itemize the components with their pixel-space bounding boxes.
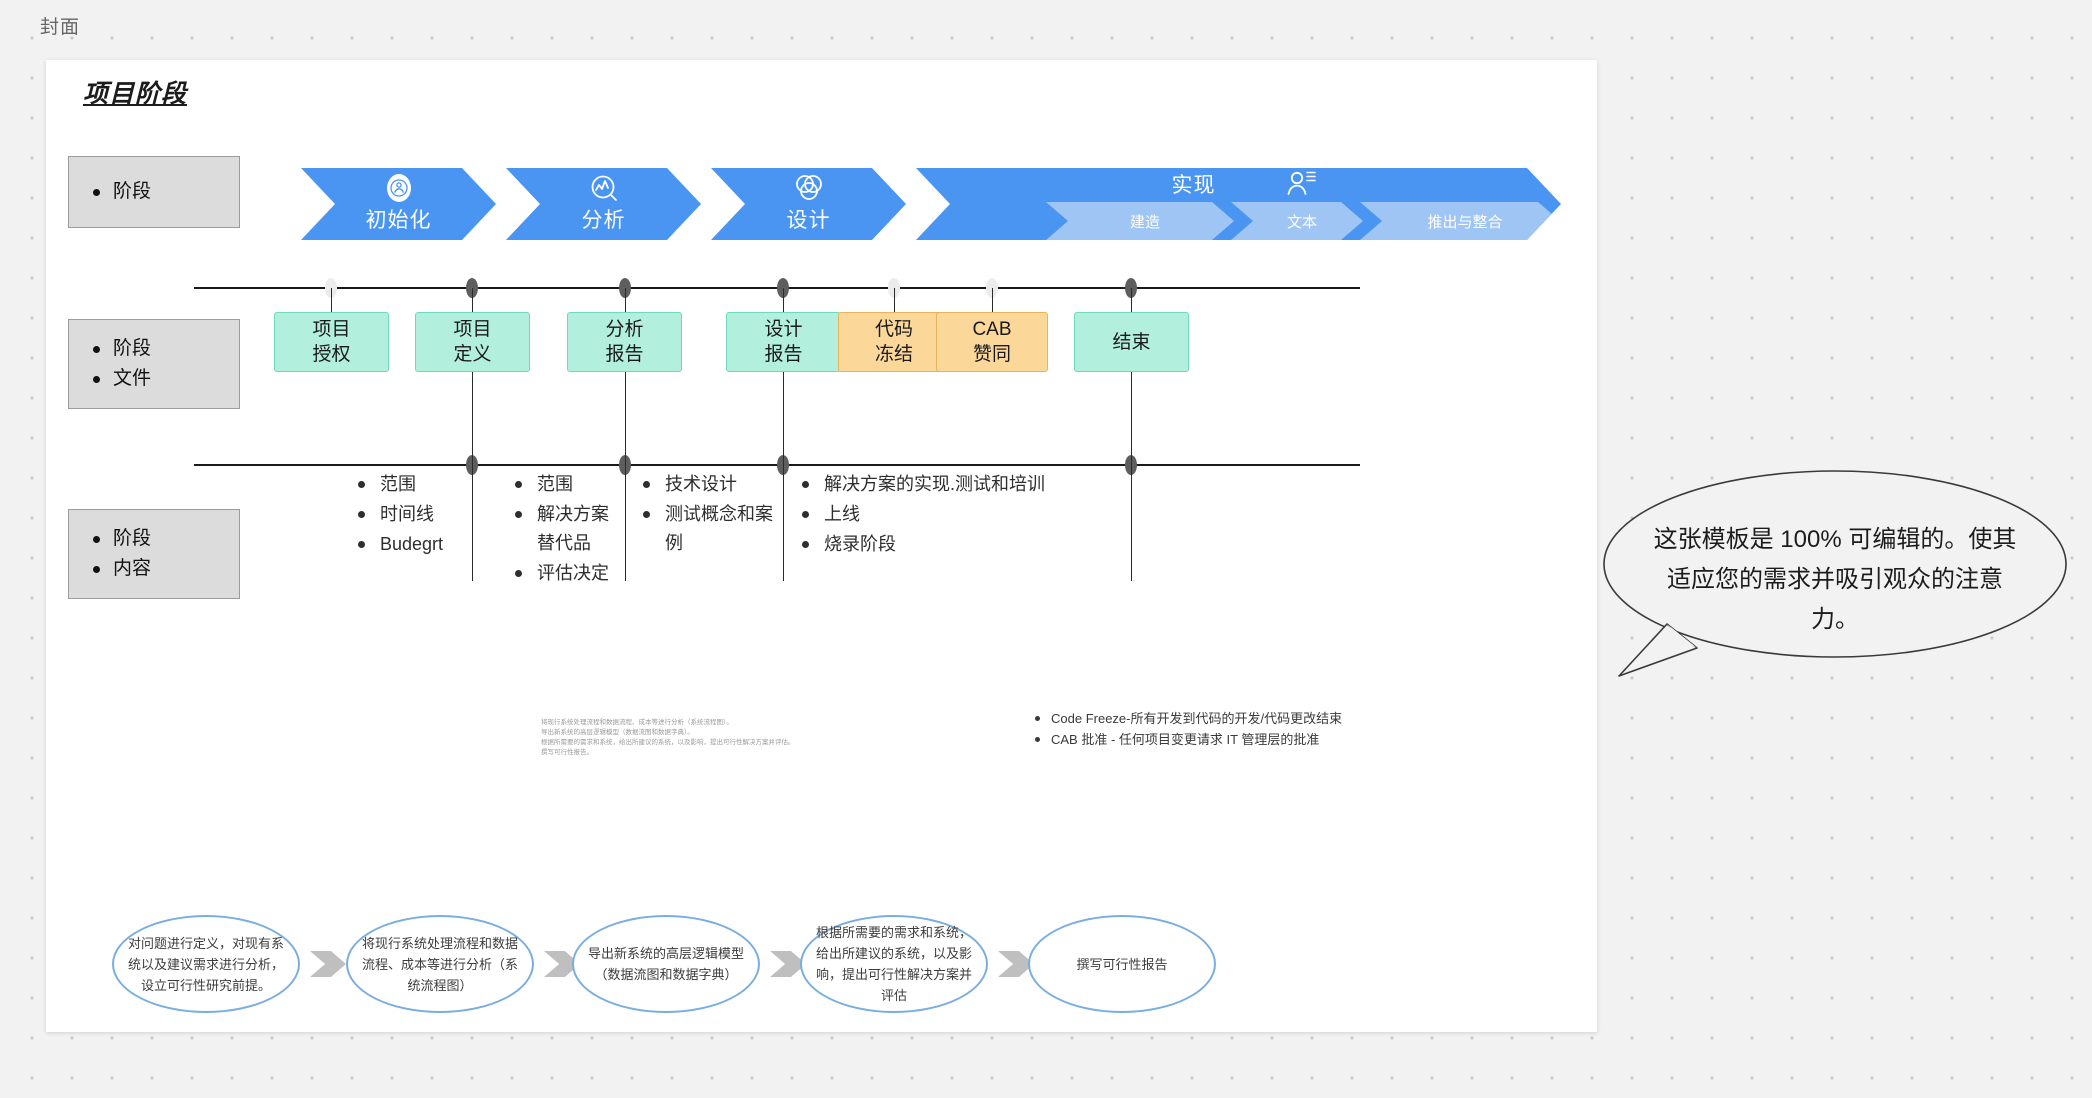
phase-chevron-label: 实现: [916, 169, 1561, 199]
row-label-item: 内容: [91, 554, 239, 584]
phase-chevron-label: 设计: [745, 204, 872, 234]
phase-chevron-implementation[interactable]: 实现 建造 文本 推出与整合: [916, 168, 1561, 240]
content-column-analysis: 范围 解决方案替代品 评估决定: [511, 470, 619, 589]
sub-phase-deploy[interactable]: 推出与整合: [1360, 202, 1560, 240]
row-label-item: 阶段: [91, 177, 239, 207]
milestone-line-2: 报告: [764, 342, 802, 367]
sub-phase-label: 推出与整合: [1427, 211, 1502, 232]
person-circle-icon: [301, 172, 496, 204]
analytics-search-icon: [506, 172, 701, 206]
page-title: 项目阶段: [83, 74, 187, 110]
phase-chevron-init[interactable]: 初始化: [301, 168, 496, 240]
timeline-stem: [625, 288, 626, 313]
flow-step-4[interactable]: 根据所需要的需求和系统，给出所建议的系统，以及影响，提出可行性解决方案并评估: [800, 915, 988, 1013]
timeline-stem: [1131, 372, 1132, 465]
list-item: 范围: [354, 470, 464, 499]
milestone-box-code-freeze[interactable]: 代码 冻结: [838, 312, 950, 372]
list-item: 烧录阶段: [798, 530, 1118, 559]
sub-phase-build[interactable]: 建造: [1046, 202, 1234, 240]
flow-step-5[interactable]: 撰写可行性报告: [1028, 915, 1216, 1013]
timeline-stem: [472, 372, 473, 465]
timeline-stem: [783, 372, 784, 465]
timeline-stem: [894, 288, 895, 313]
milestone-line-2: 赞同: [973, 342, 1011, 367]
milestone-box-analysis-report[interactable]: 分析 报告: [567, 312, 682, 372]
list-item: Budegrt: [354, 530, 464, 559]
milestone-line-1: 代码: [875, 317, 913, 342]
row-label-documents: 阶段 文件: [68, 319, 240, 409]
tiny-note-paragraph: 将现行系统处理流程和数据流程、成本等进行分析（系统流程图）。 导出新系统的高层逻…: [541, 718, 831, 758]
milestone-line-1: 分析: [605, 317, 643, 342]
phase-chevron-analysis[interactable]: 分析: [506, 168, 701, 240]
phase-chevron-banner: 初始化 分析 设计 实现: [301, 152, 1561, 240]
flow-step-3[interactable]: 导出新系统的高层逻辑模型（数据流图和数据字典）: [572, 915, 760, 1013]
list-item: 上线: [798, 500, 1118, 529]
column-divider: [1131, 465, 1132, 581]
flow-step-2[interactable]: 将现行系统处理流程和数据流程、成本等进行分析（系统流程图）: [346, 915, 534, 1013]
content-column-implementation: 解决方案的实现.测试和培训 上线 烧录阶段: [798, 470, 1118, 560]
milestone-line-1: 项目: [453, 317, 491, 342]
speech-bubble[interactable]: 这张模板是 100% 可编辑的。使其适应您的需求并吸引观众的注意力。: [1601, 468, 2069, 680]
timeline-stem: [625, 372, 626, 465]
milestone-line-1: 设计: [764, 317, 802, 342]
row-label-item: 文件: [91, 364, 239, 394]
list-item: 范围: [511, 470, 619, 499]
timeline-stem: [992, 288, 993, 313]
milestone-box-cab-approval[interactable]: CAB 赞同: [936, 312, 1048, 372]
milestone-line-2: 定义: [453, 342, 491, 367]
column-divider: [472, 465, 473, 581]
milestone-line-1: 结束: [1112, 330, 1150, 355]
list-item: 技术设计: [639, 470, 779, 499]
milestone-line-1: CAB: [972, 317, 1011, 342]
content-column-design: 技术设计 测试概念和案例: [639, 470, 779, 559]
speech-bubble-text: 这张模板是 100% 可编辑的。使其适应您的需求并吸引观众的注意力。: [1653, 520, 2017, 640]
list-item: Code Freeze-所有开发到代码的开发/代码更改结束: [1031, 708, 1342, 729]
notes-list: Code Freeze-所有开发到代码的开发/代码更改结束 CAB 批准 - 任…: [1031, 708, 1342, 750]
phase-chevron-design[interactable]: 设计: [711, 168, 906, 240]
phase-chevron-label: 分析: [540, 204, 667, 234]
venn-diagram-icon: [711, 172, 906, 206]
row-label-item: 阶段: [91, 524, 239, 554]
timeline-stem: [472, 288, 473, 313]
flow-arrow-icon: [310, 951, 346, 977]
flow-step-1[interactable]: 对问题进行定义，对现有系统以及建议需求进行分析，设立可行性研究前提。: [112, 915, 300, 1013]
slide-canvas[interactable]: 项目阶段 阶段 阶段 文件 阶段 内容 初始化: [46, 60, 1597, 1032]
timeline-stem: [783, 288, 784, 313]
row-label-content: 阶段 内容: [68, 509, 240, 599]
list-item: CAB 批准 - 任何项目变更请求 IT 管理层的批准: [1031, 729, 1342, 750]
sub-phase-label: 文本: [1287, 211, 1317, 232]
list-item: 时间线: [354, 500, 464, 529]
list-item: 解决方案的实现.测试和培训: [798, 470, 1118, 499]
list-item: 解决方案替代品: [511, 500, 619, 558]
timeline-stem: [331, 288, 332, 313]
column-divider: [625, 465, 626, 581]
milestone-box-project-authorization[interactable]: 项目 授权: [274, 312, 389, 372]
milestone-line-1: 项目: [312, 317, 350, 342]
row-label-item: 阶段: [91, 334, 239, 364]
milestone-line-2: 冻结: [875, 342, 913, 367]
milestone-box-end[interactable]: 结束: [1074, 312, 1189, 372]
milestone-line-2: 授权: [312, 342, 350, 367]
content-column-initiation: 范围 时间线 Budegrt: [354, 470, 464, 560]
feasibility-flow: 对问题进行定义，对现有系统以及建议需求进行分析，设立可行性研究前提。 将现行系统…: [62, 915, 1582, 1045]
breadcrumb[interactable]: 封面: [40, 12, 80, 39]
milestone-line-2: 报告: [605, 342, 643, 367]
sub-phase-label: 建造: [1130, 211, 1160, 232]
list-item: 评估决定: [511, 559, 619, 588]
row-label-phase: 阶段: [68, 156, 240, 228]
timeline-stem: [1131, 288, 1132, 313]
sub-phase-text[interactable]: 文本: [1231, 202, 1363, 240]
milestone-box-project-definition[interactable]: 项目 定义: [415, 312, 530, 372]
user-list-icon: [1284, 168, 1322, 207]
phase-chevron-label: 初始化: [335, 204, 462, 234]
list-item: 测试概念和案例: [639, 500, 779, 558]
milestone-box-design-report[interactable]: 设计 报告: [726, 312, 841, 372]
column-divider: [783, 465, 784, 581]
